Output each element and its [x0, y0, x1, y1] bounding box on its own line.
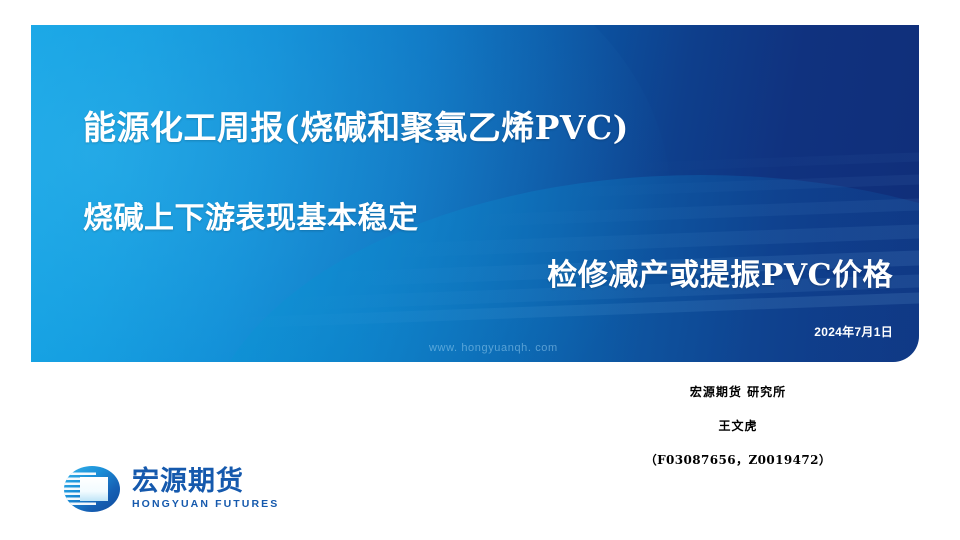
report-subtitle-secondary: 检修减产或提振PVC价格 [547, 250, 893, 294]
credits-block: 宏源期货 研究所 王文虎 （F03087656，Z0019472） [608, 386, 868, 466]
logo-wordmark: 宏源期货 HONGYUAN FUTURES [132, 468, 279, 510]
hongyuan-logo-icon [62, 464, 122, 514]
report-date: 2024年7月1日 [814, 323, 893, 340]
website-watermark: www. hongyuanqh. com [429, 342, 558, 354]
company-logo: 宏源期货 HONGYUAN FUTURES [62, 464, 279, 514]
stripe-band [31, 143, 919, 194]
title-banner: 能源化工周报(烧碱和聚氯乙烯PVC) 烧碱上下游表现基本稳定 检修减产或提振PV… [31, 25, 919, 362]
author-name: 王文虎 [608, 420, 868, 432]
report-subtitle-primary: 烧碱上下游表现基本稳定 [83, 193, 419, 237]
logo-name-cn: 宏源期货 [132, 468, 279, 496]
research-institute-label: 宏源期货 研究所 [608, 386, 868, 398]
report-title: 能源化工周报(烧碱和聚氯乙烯PVC) [83, 101, 629, 149]
license-numbers: （F03087656，Z0019472） [608, 454, 868, 466]
logo-name-en: HONGYUAN FUTURES [132, 498, 279, 510]
